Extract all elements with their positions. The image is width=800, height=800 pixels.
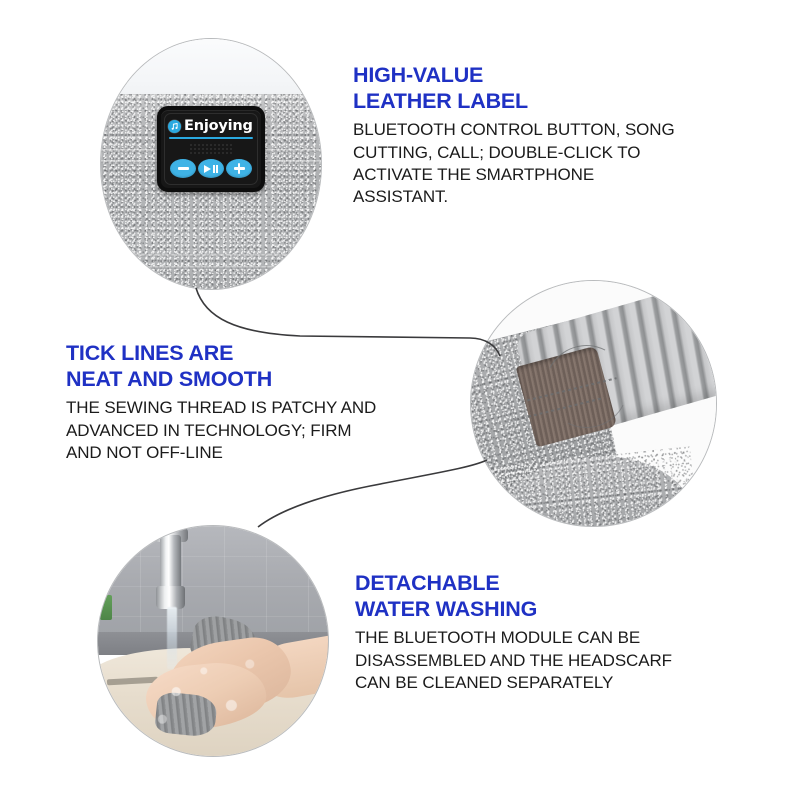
pause-bar-icon [216,165,218,173]
water-stream [167,607,177,669]
play-triangle-icon [204,165,211,173]
photo-backdrop [471,281,716,526]
photo-stitching [470,280,717,527]
soap-bottle [100,595,112,620]
plus-icon [234,163,245,174]
feature-heading: TICK LINES ARE NEAT AND SMOOTH [66,340,406,392]
music-note-icon [168,120,181,133]
accent-divider [169,137,253,139]
minus-icon [178,167,189,169]
volume-down-button[interactable] [170,159,196,178]
bluetooth-control-patch[interactable]: Enjoying [157,106,265,192]
speaker-grille [188,142,234,156]
photo-backdrop: Enjoying [101,39,321,289]
feature-body: THE SEWING THREAD IS PATCHY AND ADVANCED… [66,397,406,463]
brand-row: Enjoying [168,117,254,136]
feature-body: BLUETOOTH CONTROL BUTTON, SONG CUTTING, … [353,119,713,207]
pause-bar-icon [213,165,215,173]
faucet-aerator [156,586,186,609]
seam-line [100,254,322,257]
volume-up-button[interactable] [226,159,252,178]
feature-text-leather-label: HIGH-VALUE LEATHER LABEL BLUETOOTH CONTR… [353,62,713,208]
photo-leather-label: Enjoying [100,38,322,290]
control-button-row [168,157,254,181]
feature-text-tick-lines: TICK LINES ARE NEAT AND SMOOTH THE SEWIN… [66,340,406,464]
photo-washing [97,525,329,757]
connector-line-2 [258,460,487,527]
play-pause-icon [204,165,218,173]
infographic-canvas: Enjoying [0,0,800,800]
seam-line [100,266,322,269]
play-pause-button[interactable] [198,159,224,178]
feature-text-water-washing: DETACHABLE WATER WASHING THE BLUETOOTH M… [355,570,725,694]
brand-name-label: Enjoying [184,119,253,134]
feature-body: THE BLUETOOTH MODULE CAN BE DISASSEMBLED… [355,627,725,693]
feature-heading: HIGH-VALUE LEATHER LABEL [353,62,713,114]
feature-heading: DETACHABLE WATER WASHING [355,570,725,622]
